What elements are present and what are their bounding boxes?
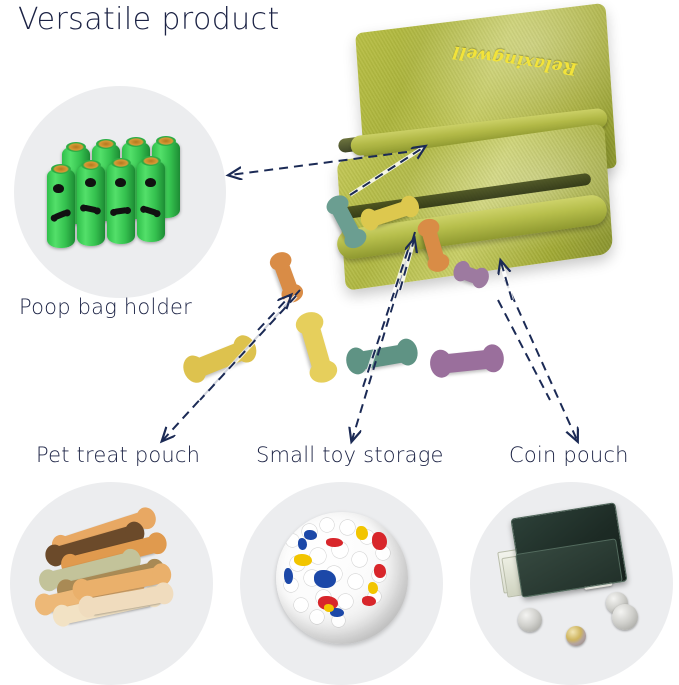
treat-bone [355, 344, 409, 371]
inset-circle-small-toy-storage [240, 482, 443, 685]
treat-bone [439, 349, 495, 374]
inset-circle-pet-treat-pouch [10, 482, 213, 685]
treat-bone [273, 258, 299, 297]
inset-circle-poop-bag-holder [14, 86, 226, 298]
inset-circle-coin-pouch [470, 482, 673, 685]
poop-bag-rolls-image [44, 138, 196, 248]
wallet-and-coins-image [488, 500, 658, 670]
treat-bone [300, 320, 333, 375]
treat-bone [190, 340, 249, 379]
caption-coin-pouch: Coin pouch [509, 443, 629, 467]
caption-poop-bag-holder: Poop bag holder [19, 295, 192, 319]
arrow-coin-highlight [498, 300, 550, 400]
page-title: Versatile product [18, 2, 280, 37]
caption-pet-treat-pouch: Pet treat pouch [36, 443, 200, 467]
dog-chew-bones-image [34, 512, 194, 662]
caption-small-toy-storage: Small toy storage [256, 443, 444, 467]
arrow-coin-highlight-line [498, 300, 550, 400]
infographic-canvas: Versatile product [0, 0, 679, 682]
spotted-play-ball-image [276, 512, 408, 644]
